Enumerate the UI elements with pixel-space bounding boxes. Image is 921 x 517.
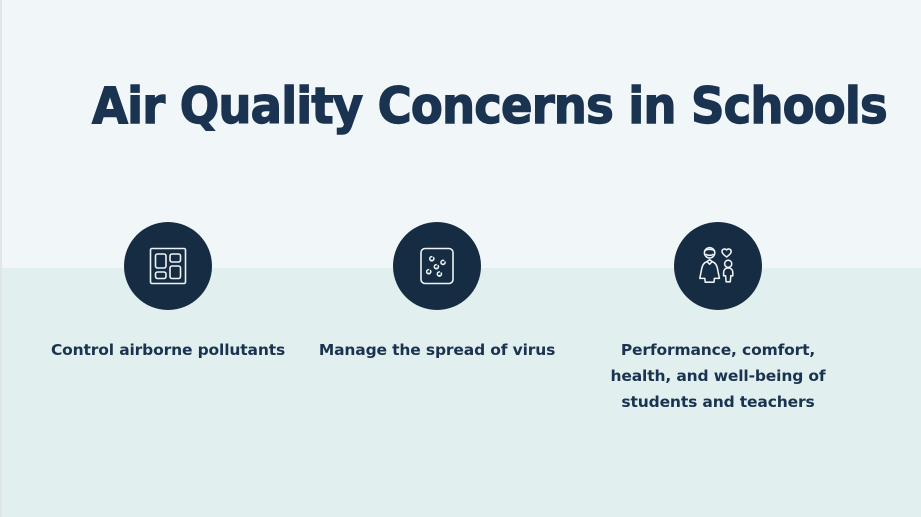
feature-column-2: Manage the spread of virus [317, 218, 557, 363]
filter-panel-icon [146, 244, 190, 288]
feature-column-3: Performance, comfort, health, and well-b… [598, 218, 838, 415]
feature-column-1: Control airborne pollutants [48, 218, 288, 363]
page-title: Air Quality Concerns in Schools [92, 74, 887, 138]
icon-badge-1 [124, 222, 212, 310]
icon-badge-3 [674, 222, 762, 310]
virus-particles-icon [415, 244, 459, 288]
slide: Air Quality Concerns in Schools Control … [0, 0, 921, 517]
feature-caption-2: Manage the spread of virus [317, 337, 557, 363]
adult-child-heart-icon [695, 243, 741, 289]
feature-caption-3: Performance, comfort, health, and well-b… [598, 337, 838, 415]
feature-columns: Control airborne pollutants [2, 218, 921, 478]
feature-caption-1: Control airborne pollutants [48, 337, 288, 363]
icon-badge-2 [393, 222, 481, 310]
